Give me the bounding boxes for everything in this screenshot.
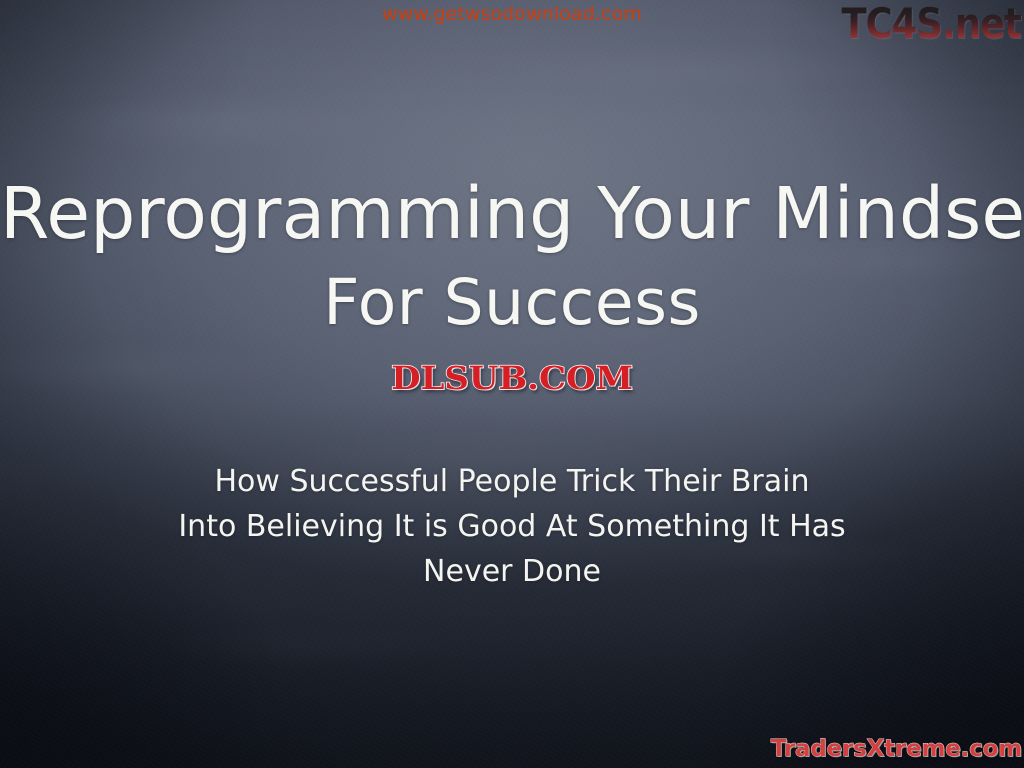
dlsub-watermark: DLSUB.COM — [0, 359, 1024, 397]
slide-subtitle: How Successful People Trick Their Brain … — [0, 459, 1024, 594]
slide-subtitle-line-2: Into Believing It is Good At Something I… — [0, 504, 1024, 549]
dlsub-watermark-label: DLSUB.COM — [391, 359, 633, 397]
presentation-slide: www.getwsodownload.com TC4S.net Reprogra… — [0, 0, 1024, 768]
tradersxtreme-watermark: TradersXtreme.com — [771, 736, 1022, 762]
slide-subtitle-line-1: How Successful People Trick Their Brain — [0, 459, 1024, 504]
slide-subtitle-line-3: Never Done — [0, 549, 1024, 594]
page-title-line-1: Reprogramming Your Mindset — [0, 178, 1024, 249]
tc4s-logo-watermark: TC4S.net — [842, 1, 1021, 47]
page-title: Reprogramming Your Mindset For Success — [0, 178, 1024, 334]
page-title-line-2: For Success — [0, 271, 1024, 334]
